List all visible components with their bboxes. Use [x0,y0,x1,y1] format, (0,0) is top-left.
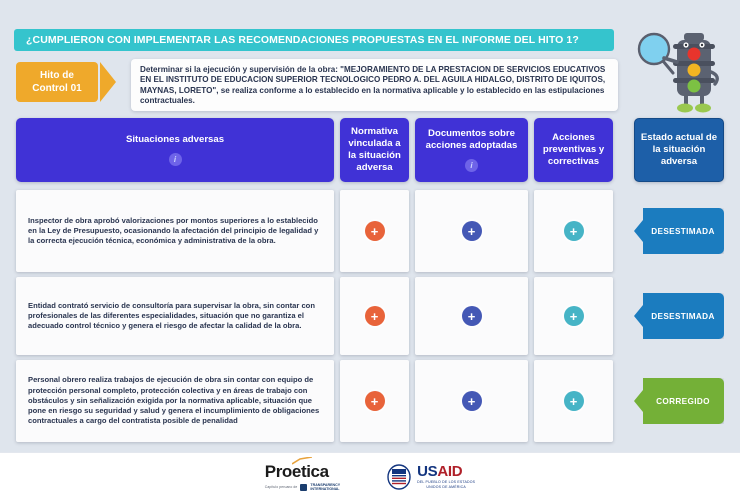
column-header-situaciones[interactable]: Situaciones adversas i [16,118,334,182]
status-badge[interactable]: DESESTIMADA [634,293,724,339]
proetica-subtitle: Capítulo peruano de TRANSPARENCY INTERNA… [265,483,340,491]
acciones-cell[interactable]: + [534,190,613,272]
column-header-acciones[interactable]: Acciones preventivas y correctivas [534,118,613,182]
situacion-description: Personal obrero realiza trabajos de ejec… [16,360,334,442]
checkmark-accent-icon [292,457,312,465]
traffic-light-mascot-icon [632,24,736,116]
plus-icon[interactable]: + [365,221,385,241]
column-header-documentos[interactable]: Documentos sobre acciones adoptadas i [415,118,528,182]
status-badge[interactable]: CORREGIDO [634,378,724,424]
table-row: Personal obrero realiza trabajos de ejec… [0,360,740,442]
normativa-cell[interactable]: + [340,360,409,442]
column-header-normativa[interactable]: Normativa vinculada a la situación adver… [340,118,409,182]
documentos-cell[interactable]: + [415,277,528,355]
usaid-word-row: USAID [417,464,475,479]
table-row: Inspector de obra aprobó valorizaciones … [0,190,740,272]
column-header-estado-label: Estado actual de la situación adversa [639,132,719,168]
status-badge[interactable]: DESESTIMADA [634,208,724,254]
milestone-tag: Hito de Control 01 [16,62,98,102]
info-icon[interactable]: i [169,153,182,166]
column-header-normativa-label: Normativa vinculada a la situación adver… [344,126,405,174]
plus-icon[interactable]: + [365,391,385,411]
transparency-international-name: TRANSPARENCY INTERNATIONAL [310,483,340,491]
situacion-description: Entidad contrató servicio de consultoría… [16,277,334,355]
column-header-documentos-label: Documentos sobre acciones adoptadas [419,128,524,152]
plus-icon[interactable]: + [462,306,482,326]
transparency-international-mark-icon [300,484,307,491]
milestone-tag-line2: Control 01 [32,82,81,95]
proetica-sub-text: Capítulo peruano de [265,485,298,489]
plus-icon[interactable]: + [462,391,482,411]
plus-icon[interactable]: + [564,391,584,411]
column-header-situaciones-label: Situaciones adversas [126,134,224,146]
infographic-page: ¿CUMPLIERON CON IMPLEMENTAR LAS RECOMEND… [0,0,740,500]
normativa-cell[interactable]: + [340,190,409,272]
proetica-logo: Proetica Capítulo peruano de TRANSPARENC… [265,462,340,491]
table-header-row: Situaciones adversas i Normativa vincula… [0,118,740,182]
documentos-cell[interactable]: + [415,360,528,442]
normativa-cell[interactable]: + [340,277,409,355]
proetica-wordmark: Proetica [265,462,329,482]
column-header-acciones-label: Acciones preventivas y correctivas [538,132,609,168]
acciones-cell[interactable]: + [534,277,613,355]
plus-icon[interactable]: + [462,221,482,241]
usaid-logo: USAID DEL PUEBLO DE LOS ESTADOS UNIDOS D… [386,464,475,490]
objective-text: Determinar si la ejecución y supervisión… [131,59,618,111]
usaid-tagline: DEL PUEBLO DE LOS ESTADOS UNIDOS DE AMÉR… [417,480,475,489]
info-icon[interactable]: i [465,159,478,172]
usaid-wordmark: USAID DEL PUEBLO DE LOS ESTADOS UNIDOS D… [417,464,475,489]
milestone-tag-line1: Hito de [40,69,74,82]
milestone-tag-group: Hito de Control 01 [16,62,116,102]
plus-icon[interactable]: + [564,221,584,241]
usaid-seal-icon [386,464,412,490]
table-row: Entidad contrató servicio de consultoría… [0,277,740,355]
page-title-banner: ¿CUMPLIERON CON IMPLEMENTAR LAS RECOMEND… [14,29,614,51]
documentos-cell[interactable]: + [415,190,528,272]
column-header-estado[interactable]: Estado actual de la situación adversa [634,118,724,182]
footer-logos: Proetica Capítulo peruano de TRANSPARENC… [0,452,740,500]
plus-icon[interactable]: + [564,306,584,326]
plus-icon[interactable]: + [365,306,385,326]
arrow-right-icon [100,62,116,102]
situacion-description: Inspector de obra aprobó valorizaciones … [16,190,334,272]
acciones-cell[interactable]: + [534,360,613,442]
